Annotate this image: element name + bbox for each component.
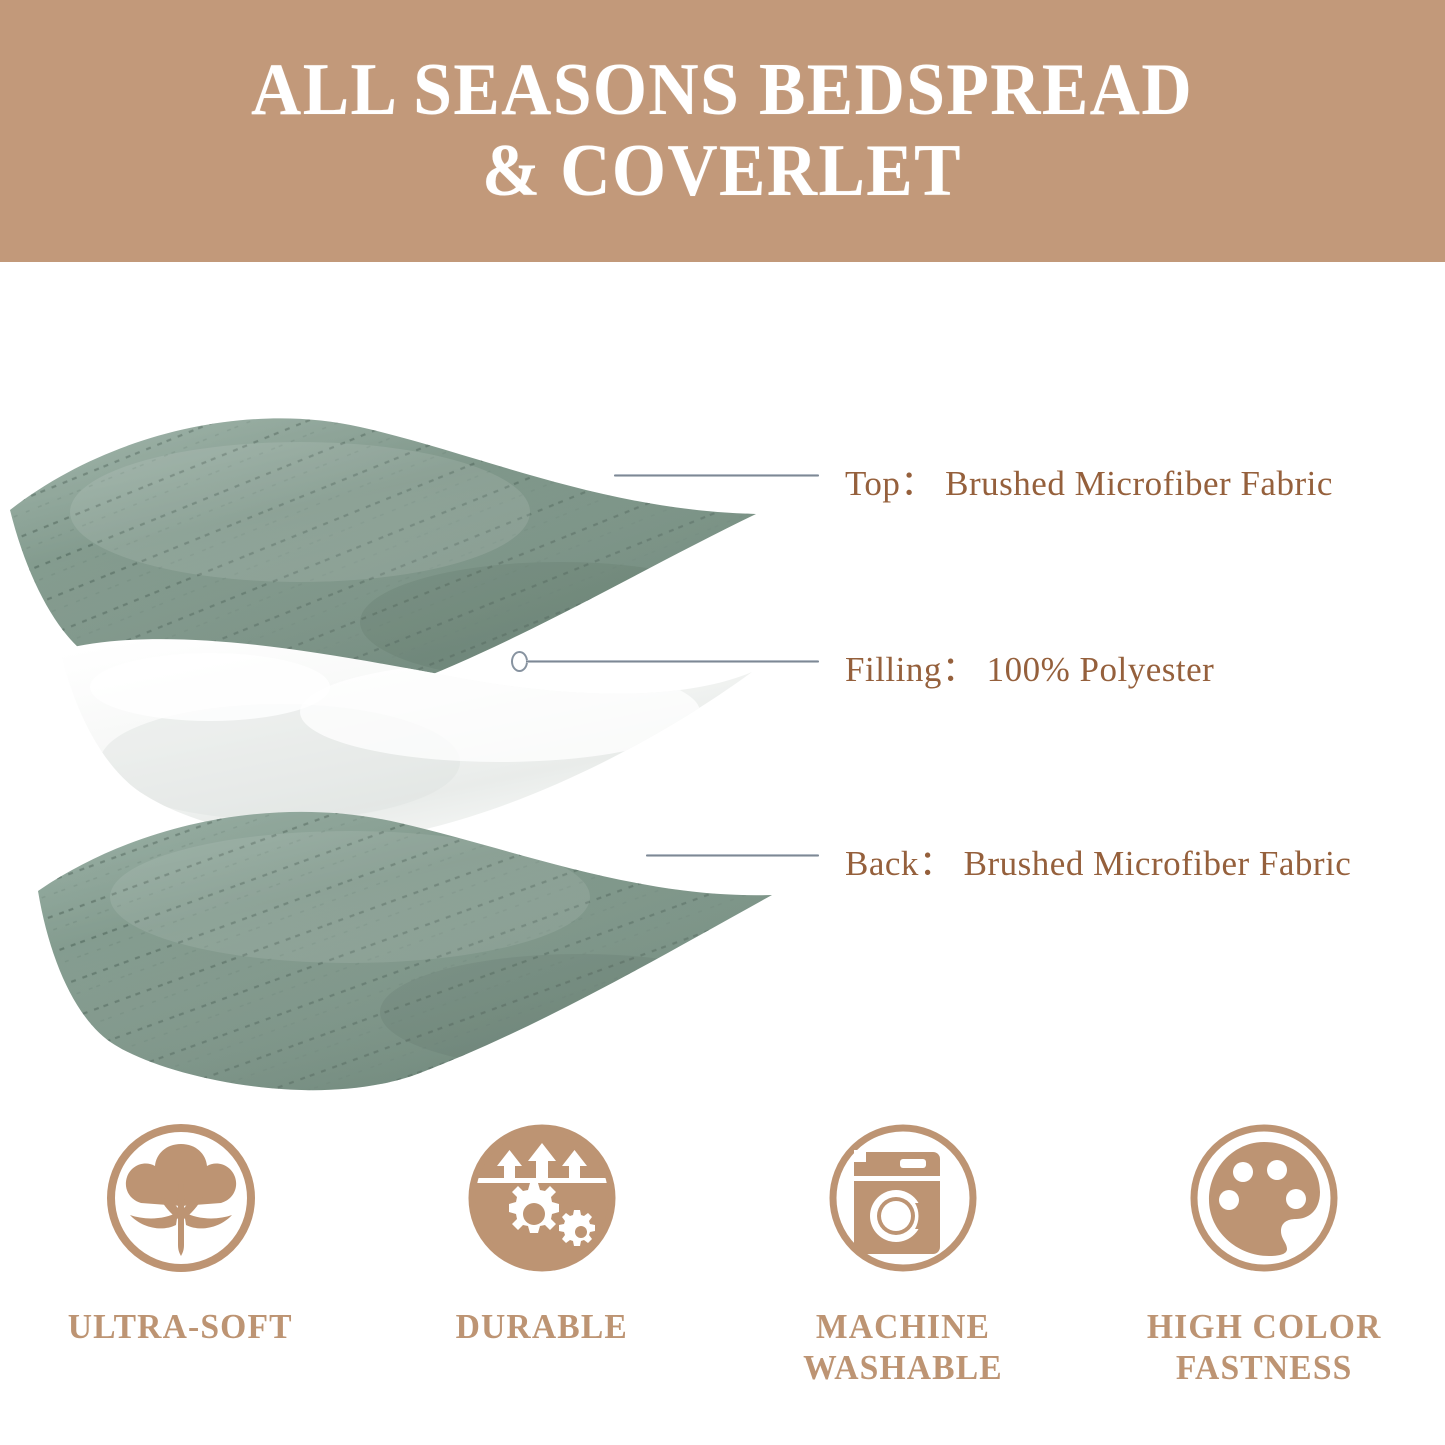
paint-palette-icon <box>1179 1120 1349 1290</box>
feature-label-line1: HIGH COLOR <box>1147 1307 1382 1346</box>
infographic-page: ALL SEASONS BEDSPREAD & COVERLET <box>0 0 1445 1445</box>
leader-line-back <box>646 854 819 857</box>
feature-label-line2: FASTNESS <box>1176 1348 1353 1387</box>
title-line-1: ALL SEASONS BEDSPREAD <box>252 49 1194 131</box>
back-fabric-layer <box>20 777 800 1107</box>
feature-label-line1: ULTRA-SOFT <box>68 1307 293 1346</box>
washing-machine-icon <box>818 1120 988 1290</box>
spec-label-top: Top： Brushed Microfiber Fabric <box>845 455 1333 506</box>
spec-label-filling: Filling： 100% Polyester <box>845 641 1214 692</box>
feature-badges-row: ULTRA-SOFT <box>0 1120 1445 1445</box>
feature-machine-washable: MACHINE WASHABLE <box>753 1120 1053 1389</box>
cotton-boll-icon <box>96 1120 266 1290</box>
feature-durable: DURABLE <box>392 1120 692 1347</box>
leader-line-filling <box>526 660 819 663</box>
feature-high-color-fastness: HIGH COLOR FASTNESS <box>1114 1120 1414 1389</box>
fabric-layer-stack <box>0 262 1445 1092</box>
feature-label-high-color-fastness: HIGH COLOR FASTNESS <box>1147 1306 1382 1389</box>
feature-label-ultra-soft: ULTRA-SOFT <box>68 1306 293 1347</box>
spec-label-back: Back： Brushed Microfiber Fabric <box>845 835 1351 886</box>
gears-arrows-icon <box>457 1120 627 1290</box>
title-line-2: & COVERLET <box>252 131 1194 212</box>
feature-label-machine-washable: MACHINE WASHABLE <box>803 1306 1003 1389</box>
leader-line-top <box>614 474 819 477</box>
feature-ultra-soft: ULTRA-SOFT <box>31 1120 331 1347</box>
feature-label-line1: DURABLE <box>456 1307 628 1346</box>
feature-label-durable: DURABLE <box>456 1306 628 1347</box>
page-title: ALL SEASONS BEDSPREAD & COVERLET <box>214 50 1231 213</box>
header-banner: ALL SEASONS BEDSPREAD & COVERLET <box>0 0 1445 262</box>
feature-label-line2: WASHABLE <box>803 1348 1003 1387</box>
feature-label-line1: MACHINE <box>816 1307 990 1346</box>
